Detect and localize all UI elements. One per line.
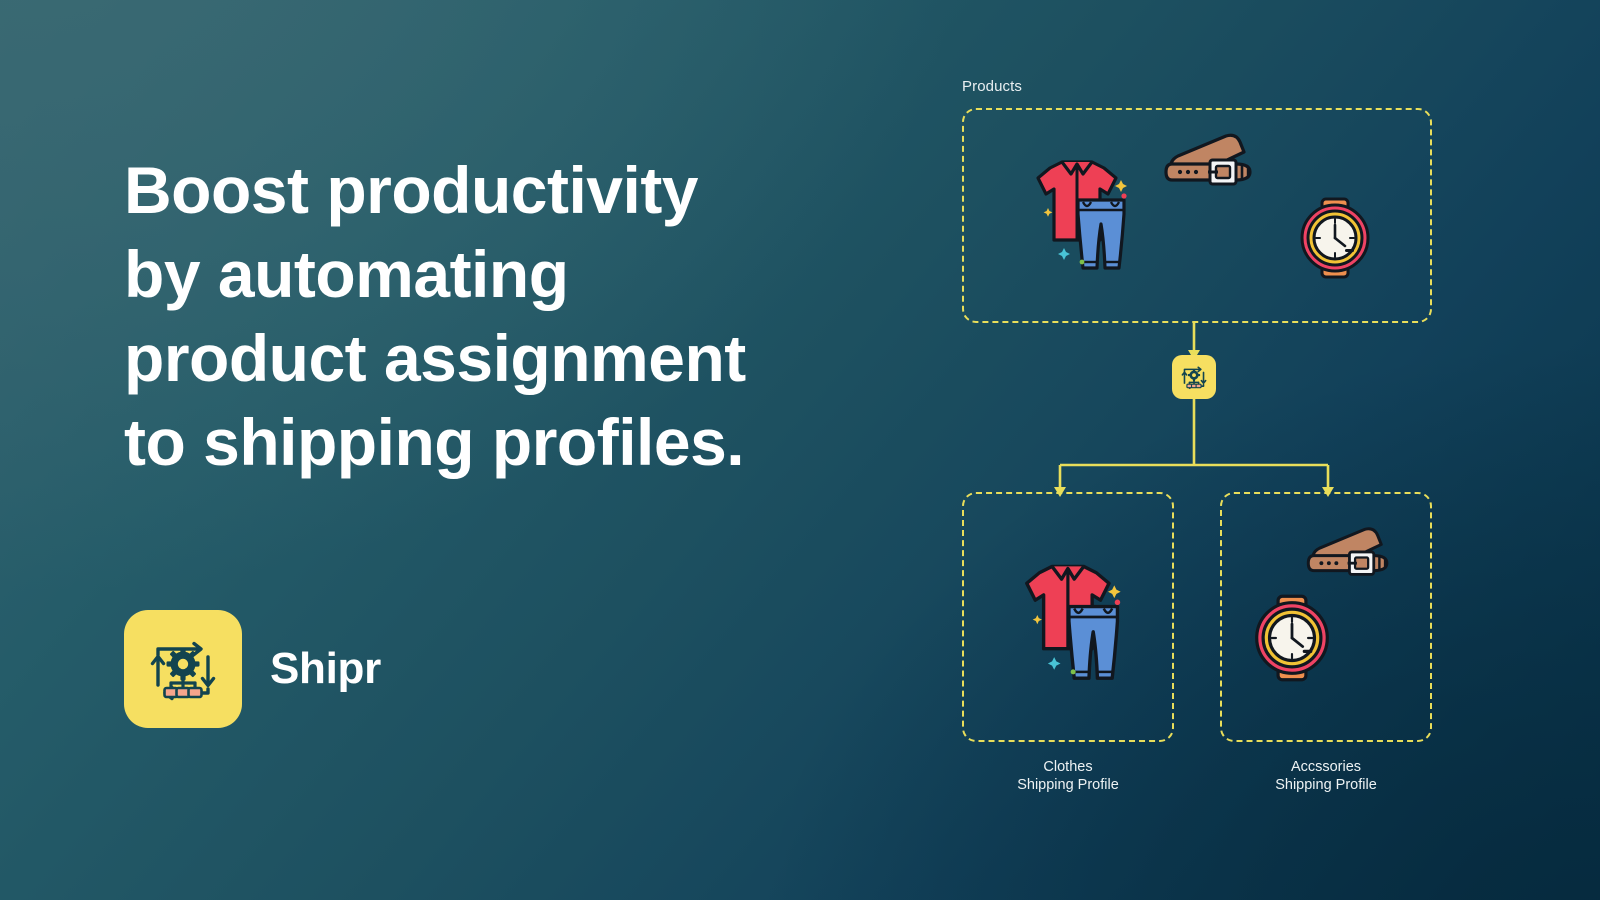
hero-section: Boost productivity by automating product… xyxy=(124,148,884,484)
promo-banner: Boost productivity by automating product… xyxy=(0,0,1600,900)
shipr-automation-logo-icon xyxy=(124,610,242,728)
clothes-shipping-profile-box xyxy=(962,492,1174,742)
clothes-shipping-profile-caption: Clothes Shipping Profile xyxy=(962,758,1174,794)
accessories-shipping-profile-caption: Accssories Shipping Profile xyxy=(1220,758,1432,794)
belt-icon xyxy=(1164,128,1270,195)
clothes-icon xyxy=(1012,546,1128,691)
automation-node[interactable] xyxy=(1172,355,1216,399)
flow-diagram: Products xyxy=(930,60,1550,840)
accessories-shipping-profile-box xyxy=(1220,492,1432,742)
brand-name: Shipr xyxy=(270,644,381,694)
clothes-icon xyxy=(1024,144,1134,279)
products-label: Products xyxy=(962,78,1022,95)
brand-lockup: Shipr xyxy=(124,610,381,728)
products-box xyxy=(962,108,1432,323)
shipr-automation-logo-icon xyxy=(1178,361,1210,393)
watch-icon xyxy=(1246,592,1338,689)
page-title: Boost productivity by automating product… xyxy=(124,148,884,484)
belt-icon xyxy=(1306,522,1406,585)
watch-icon xyxy=(1292,195,1378,286)
